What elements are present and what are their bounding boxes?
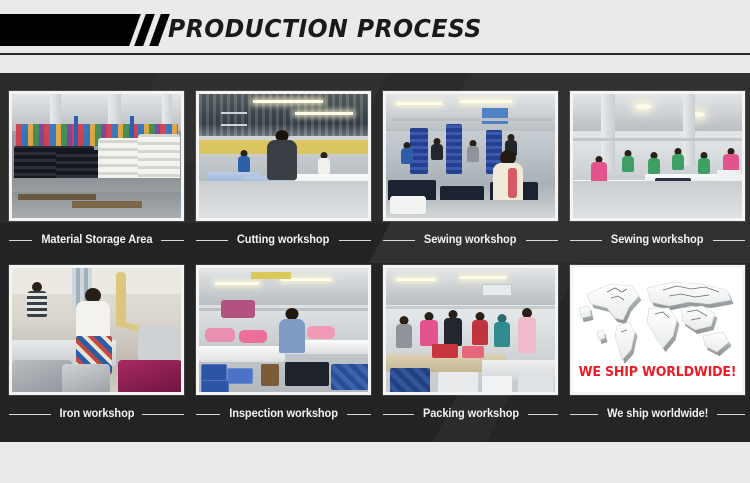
caption-dash-right — [717, 414, 745, 415]
header-divider — [0, 53, 750, 55]
gallery-row-2: Iron workshop — [9, 265, 741, 429]
caption-inspection: Inspection workshop — [196, 399, 371, 429]
caption-sewing-a: Sewing workshop — [383, 225, 558, 255]
photo-inspection-workshop — [199, 268, 368, 392]
gallery-cell-worldwide[interactable]: WE SHIP WORLDWIDE! We ship worldwide! — [570, 265, 745, 429]
caption-dash-left — [383, 414, 414, 415]
caption-dash-left — [9, 240, 32, 241]
caption-dash-right — [713, 240, 745, 241]
caption-label: Sewing workshop — [424, 234, 516, 246]
gallery-rows: Material Storage Area — [0, 73, 750, 429]
photo-frame: WE SHIP WORLDWIDE! — [570, 265, 745, 395]
caption-dash-left — [196, 240, 228, 241]
photo-frame — [196, 265, 371, 395]
caption-packing: Packing workshop — [383, 399, 558, 429]
photo-packing-workshop — [386, 268, 555, 392]
caption-iron: Iron workshop — [9, 399, 184, 429]
caption-dash-left — [383, 240, 415, 241]
photo-frame — [9, 265, 184, 395]
world-map-banner: WE SHIP WORLDWIDE! — [576, 365, 740, 380]
caption-label: Iron workshop — [59, 408, 134, 420]
caption-worldwide: We ship worldwide! — [570, 399, 745, 429]
gallery-row-1: Material Storage Area — [9, 91, 741, 255]
caption-dash-left — [570, 240, 602, 241]
caption-dash-left — [570, 414, 598, 415]
page-header: PRODUCTION PROCESS — [0, 0, 750, 73]
caption-label: Inspection workshop — [229, 408, 338, 420]
photo-material-storage — [12, 94, 181, 218]
caption-dash-right — [528, 414, 559, 415]
photo-sewing-workshop-a — [386, 94, 555, 218]
production-process-page: PRODUCTION PROCESS — [0, 0, 750, 483]
header-black-bar — [0, 14, 141, 46]
photo-iron-workshop — [12, 268, 181, 392]
caption-label: Packing workshop — [423, 408, 519, 420]
gallery-cell-packing[interactable]: Packing workshop — [383, 265, 558, 429]
caption-material-storage: Material Storage Area — [9, 225, 184, 255]
gallery-cell-cutting[interactable]: Cutting workshop — [196, 91, 371, 255]
photo-world-map: WE SHIP WORLDWIDE! — [573, 268, 742, 392]
caption-label: Material Storage Area — [41, 234, 152, 246]
gallery-cell-material-storage[interactable]: Material Storage Area — [9, 91, 184, 255]
photo-cutting-workshop — [199, 94, 368, 218]
caption-cutting: Cutting workshop — [196, 225, 371, 255]
caption-label: Cutting workshop — [237, 234, 329, 246]
world-map-icon — [577, 274, 738, 370]
photo-sewing-workshop-b — [573, 94, 742, 218]
caption-label: Sewing workshop — [611, 234, 703, 246]
caption-dash-left — [196, 414, 220, 415]
caption-dash-right — [526, 240, 558, 241]
page-title: PRODUCTION PROCESS — [168, 13, 482, 45]
photo-frame — [196, 91, 371, 221]
photo-frame — [383, 91, 558, 221]
caption-dash-left — [9, 414, 51, 415]
gallery-panel: Material Storage Area — [0, 73, 750, 442]
gallery-cell-iron[interactable]: Iron workshop — [9, 265, 184, 429]
photo-frame — [570, 91, 745, 221]
caption-dash-right — [142, 414, 184, 415]
header-accent-shape — [0, 14, 170, 46]
caption-dash-right — [339, 240, 371, 241]
photo-frame — [9, 91, 184, 221]
photo-frame — [383, 265, 558, 395]
caption-label: We ship worldwide! — [607, 408, 708, 420]
world-map-background: WE SHIP WORLDWIDE! — [573, 268, 742, 392]
caption-dash-right — [347, 414, 371, 415]
footer-strip — [0, 442, 750, 483]
caption-sewing-b: Sewing workshop — [570, 225, 745, 255]
caption-dash-right — [161, 240, 184, 241]
gallery-cell-sewing-a[interactable]: Sewing workshop — [383, 91, 558, 255]
gallery-cell-inspection[interactable]: Inspection workshop — [196, 265, 371, 429]
gallery-cell-sewing-b[interactable]: Sewing workshop — [570, 91, 745, 255]
